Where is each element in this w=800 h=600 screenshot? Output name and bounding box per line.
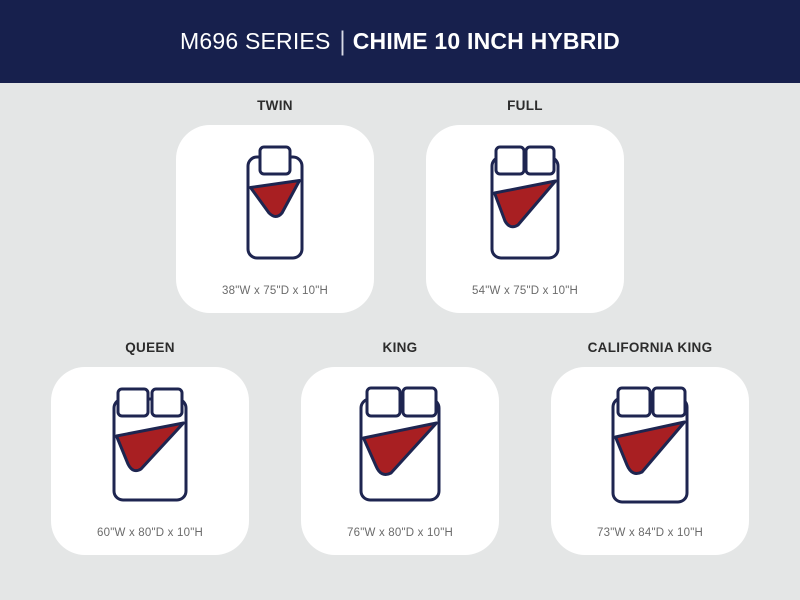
size-dimensions-king: 76"W x 80"D x 10"H bbox=[347, 527, 453, 539]
title-separator: | bbox=[340, 26, 346, 57]
size-block-king[interactable]: KING 76"W x 80"D x 10"H bbox=[301, 340, 499, 555]
size-dimensions-california-king: 73"W x 84"D x 10"H bbox=[597, 527, 703, 539]
size-dimensions-full: 54"W x 75"D x 10"H bbox=[472, 285, 578, 297]
mattress-size-chart-page: M696 SERIES | CHIME 10 INCH HYBRID TWIN … bbox=[0, 0, 800, 600]
size-label-twin: TWIN bbox=[257, 98, 293, 113]
size-dimensions-twin: 38"W x 75"D x 10"H bbox=[222, 285, 328, 297]
page-title: M696 SERIES | CHIME 10 INCH HYBRID bbox=[180, 28, 620, 55]
size-row-top: TWIN 38"W x 75"D x 10"H FULL bbox=[0, 98, 800, 313]
size-dimensions-queen: 60"W x 80"D x 10"H bbox=[97, 527, 203, 539]
size-label-king: KING bbox=[383, 340, 418, 355]
size-card-king[interactable]: 76"W x 80"D x 10"H bbox=[301, 367, 499, 555]
size-label-full: FULL bbox=[507, 98, 543, 113]
size-card-california-king[interactable]: 73"W x 84"D x 10"H bbox=[551, 367, 749, 555]
bed-queen-icon bbox=[85, 381, 215, 506]
size-row-bottom: QUEEN 60"W x 80"D x 10"H KING bbox=[0, 340, 800, 555]
size-block-queen[interactable]: QUEEN 60"W x 80"D x 10"H bbox=[51, 340, 249, 555]
header-bar: M696 SERIES | CHIME 10 INCH HYBRID bbox=[0, 0, 800, 83]
size-block-twin[interactable]: TWIN 38"W x 75"D x 10"H bbox=[176, 98, 374, 313]
bed-twin-icon bbox=[210, 139, 340, 264]
bed-california-king-icon bbox=[585, 381, 715, 506]
size-block-california-king[interactable]: CALIFORNIA KING 73"W x 84"D x 10"H bbox=[551, 340, 749, 555]
size-block-full[interactable]: FULL 54"W x 75"D x 10"H bbox=[426, 98, 624, 313]
size-card-full[interactable]: 54"W x 75"D x 10"H bbox=[426, 125, 624, 313]
bed-king-icon bbox=[335, 381, 465, 506]
size-card-queen[interactable]: 60"W x 80"D x 10"H bbox=[51, 367, 249, 555]
size-card-twin[interactable]: 38"W x 75"D x 10"H bbox=[176, 125, 374, 313]
size-label-california-king: CALIFORNIA KING bbox=[588, 340, 713, 355]
title-model: CHIME 10 INCH HYBRID bbox=[353, 28, 620, 55]
size-label-queen: QUEEN bbox=[125, 340, 175, 355]
bed-full-icon bbox=[460, 139, 590, 264]
title-series: M696 SERIES bbox=[180, 28, 331, 55]
